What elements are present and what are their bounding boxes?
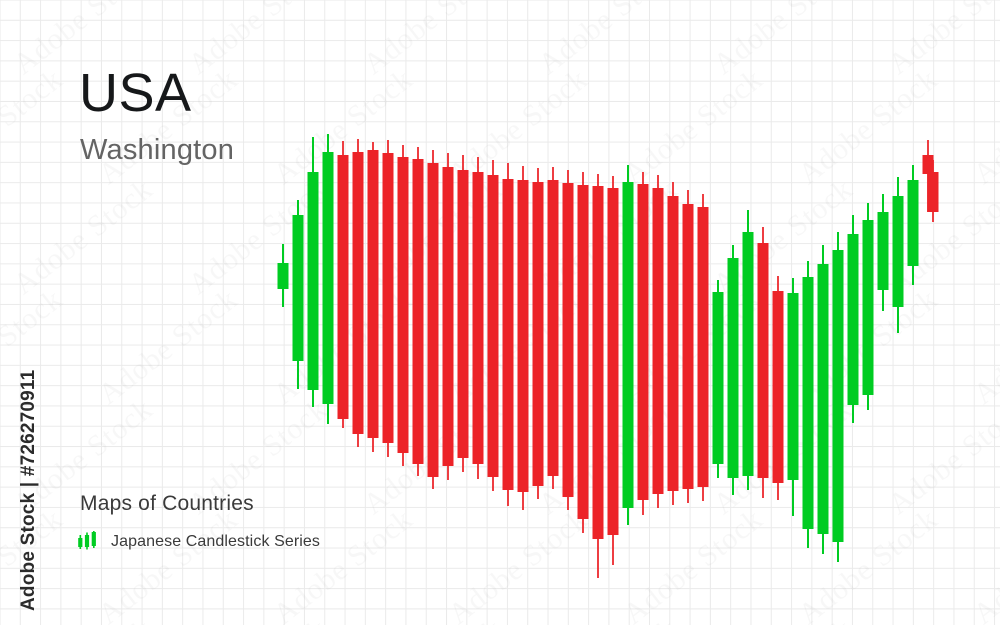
- candle-body: [413, 159, 424, 464]
- candle-body: [593, 186, 604, 539]
- candle-body: [608, 188, 619, 535]
- candle-body: [368, 150, 379, 438]
- candle-body: [818, 264, 829, 534]
- candlestick-chart-icon: [78, 531, 102, 552]
- chart-legend: Japanese Candlestick Series: [78, 531, 320, 552]
- candle-group: [278, 134, 939, 578]
- candle-body: [728, 258, 739, 478]
- candle-body: [278, 263, 289, 289]
- candle-body: [518, 180, 529, 492]
- candle-body: [908, 180, 919, 266]
- candle-body: [758, 243, 769, 478]
- candle-body: [848, 234, 859, 405]
- candle-body: [788, 293, 799, 480]
- candle-body: [398, 157, 409, 453]
- candle-body: [923, 155, 934, 174]
- candle-body: [638, 184, 649, 500]
- candle-body: [878, 212, 889, 290]
- candle-body: [488, 175, 499, 477]
- candle-body: [353, 152, 364, 434]
- candle-body: [683, 204, 694, 489]
- candle-body: [443, 167, 454, 466]
- candle-body: [893, 196, 904, 307]
- legend-label: Japanese Candlestick Series: [111, 533, 320, 551]
- candle-body: [293, 215, 304, 361]
- candle-body: [928, 172, 939, 212]
- candle-body: [863, 220, 874, 395]
- candle-body: [323, 152, 334, 404]
- credit-text: Adobe Stock | #726270911: [18, 370, 40, 611]
- candle-body: [458, 170, 469, 458]
- candle-body: [563, 183, 574, 497]
- candle-body: [833, 250, 844, 542]
- candle-body: [743, 232, 754, 476]
- poster-canvas: Adobe StockAdobe StockAdobe StockAdobe S…: [0, 0, 1000, 625]
- candle-body: [503, 179, 514, 490]
- candle-body: [338, 155, 349, 419]
- candle-body: [698, 207, 709, 487]
- candle-body: [803, 277, 814, 529]
- caption-text: Maps of Countries: [80, 493, 254, 514]
- candle-body: [653, 188, 664, 494]
- candle-body: [548, 180, 559, 476]
- candle-body: [713, 292, 724, 464]
- candle-body: [473, 172, 484, 464]
- candle-body: [623, 182, 634, 508]
- candle-body: [308, 172, 319, 390]
- candle-body: [428, 163, 439, 477]
- candle-body: [578, 185, 589, 519]
- candle-body: [383, 153, 394, 443]
- candle-body: [533, 182, 544, 486]
- candle-body: [773, 291, 784, 483]
- candle-body: [668, 196, 679, 491]
- page-title: USA: [79, 66, 192, 120]
- page-subtitle: Washington: [80, 136, 234, 165]
